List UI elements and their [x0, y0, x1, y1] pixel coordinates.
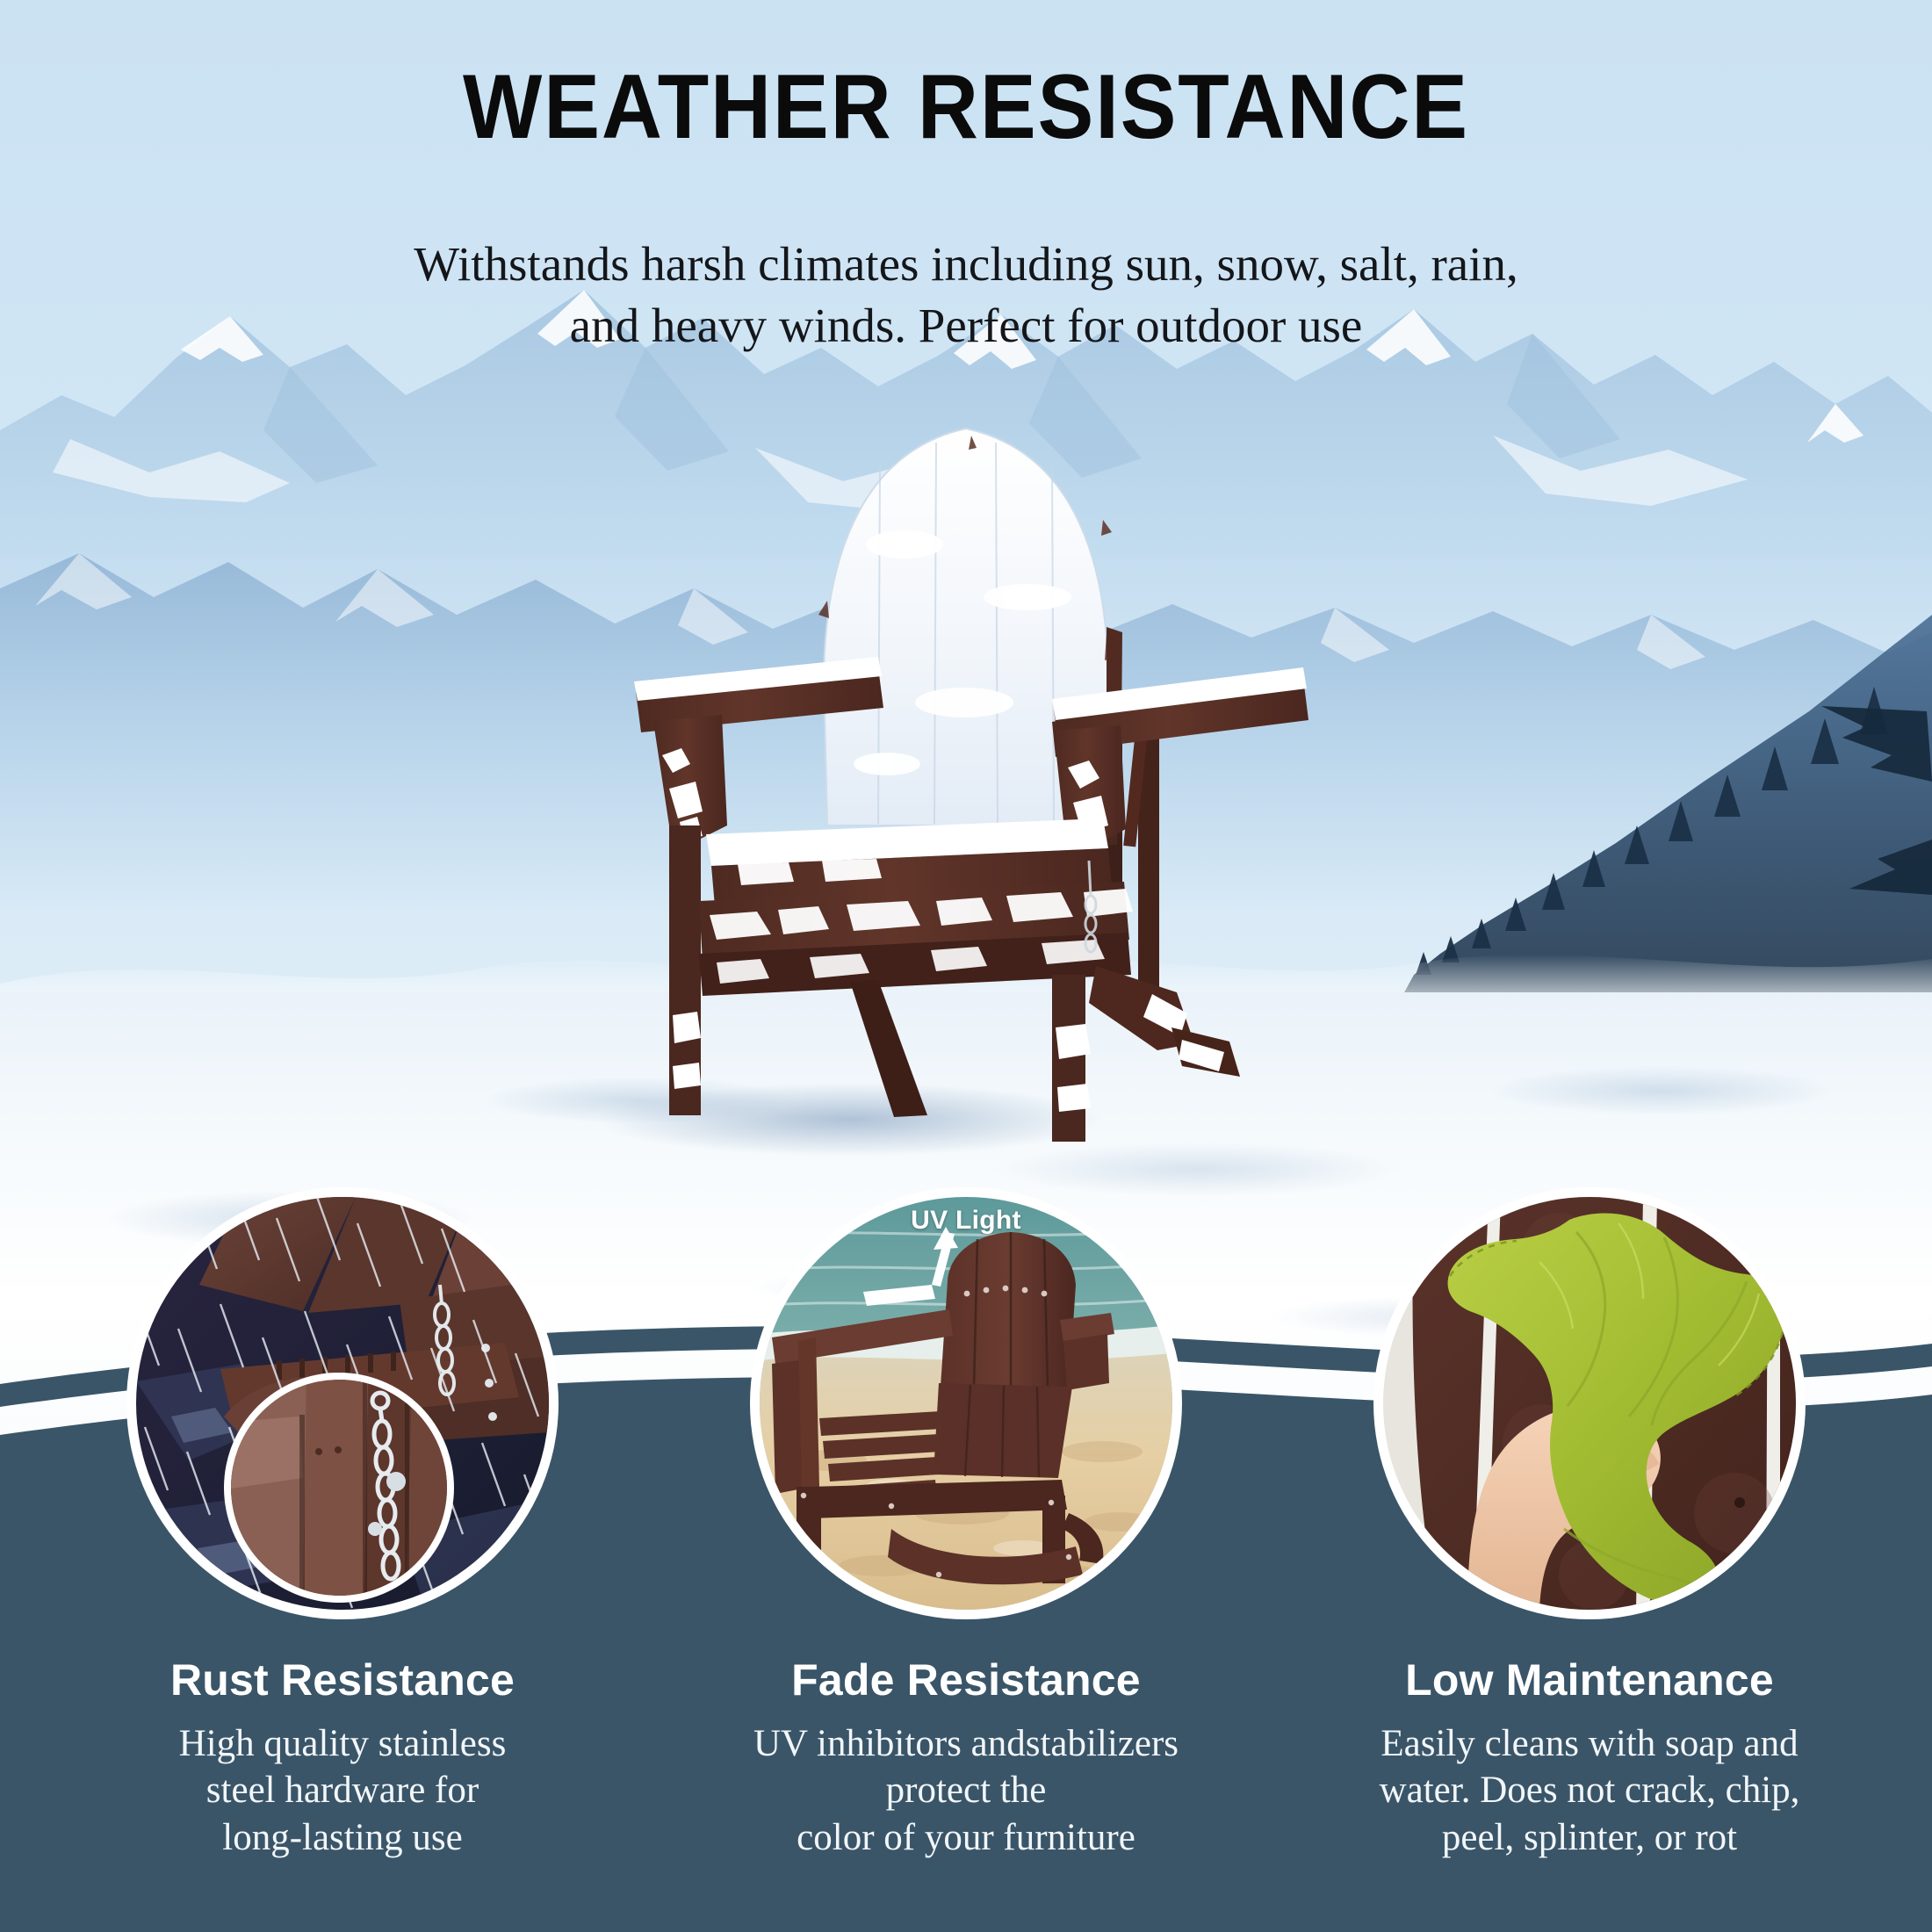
feature-body-line-1: Easily cleans with soap and [1381, 1723, 1798, 1764]
feature-image-low-maintenance [1373, 1187, 1806, 1619]
feature-image-fade-resistance: UV Light [750, 1187, 1182, 1619]
feature-body-line-1: High quality stainless [179, 1723, 507, 1764]
feature-heading-fade-resistance: Fade Resistance [694, 1656, 1238, 1705]
subtitle-line-2: and heavy winds. Perfect for outdoor use [263, 295, 1669, 357]
feature-body-line-3: peel, splinter, or rot [1442, 1817, 1737, 1858]
feature-heading-low-maintenance: Low Maintenance [1317, 1656, 1862, 1705]
feature-body-low-maintenance: Easily cleans with soap and water. Does … [1317, 1720, 1862, 1861]
feature-body-fade-resistance: UV inhibitors andstabilizers protect the… [694, 1720, 1238, 1861]
feature-image-rust-resistance [126, 1187, 559, 1619]
feature-body-line-1: UV inhibitors andstabilizers [753, 1723, 1179, 1764]
infographic-canvas: WEATHER RESISTANCE Withstands harsh clim… [0, 0, 1932, 1932]
feature-text-fade-resistance: Fade Resistance UV inhibitors andstabili… [694, 1656, 1238, 1861]
feature-body-line-2: steel hardware for [206, 1770, 479, 1811]
feature-body-line-3: color of your furniture [797, 1817, 1135, 1858]
feature-text-rust-resistance: Rust Resistance High quality stainless s… [70, 1656, 615, 1861]
feature-body-line-3: long-lasting use [222, 1817, 463, 1858]
chain-closeup-inset [224, 1373, 454, 1603]
page-title: WEATHER RESISTANCE [77, 61, 1855, 153]
feature-body-line-2: protect the [886, 1770, 1047, 1811]
subtitle-line-1: Withstands harsh climates including sun,… [263, 234, 1669, 295]
uv-light-annotation: UV Light [911, 1206, 1021, 1236]
feature-body-line-2: water. Does not crack, chip, [1380, 1770, 1800, 1811]
hero-chair-image [615, 413, 1317, 1150]
feature-body-rust-resistance: High quality stainless steel hardware fo… [70, 1720, 615, 1861]
feature-heading-rust-resistance: Rust Resistance [70, 1656, 615, 1705]
page-subtitle: Withstands harsh climates including sun,… [263, 234, 1669, 357]
feature-text-low-maintenance: Low Maintenance Easily cleans with soap … [1317, 1656, 1862, 1861]
